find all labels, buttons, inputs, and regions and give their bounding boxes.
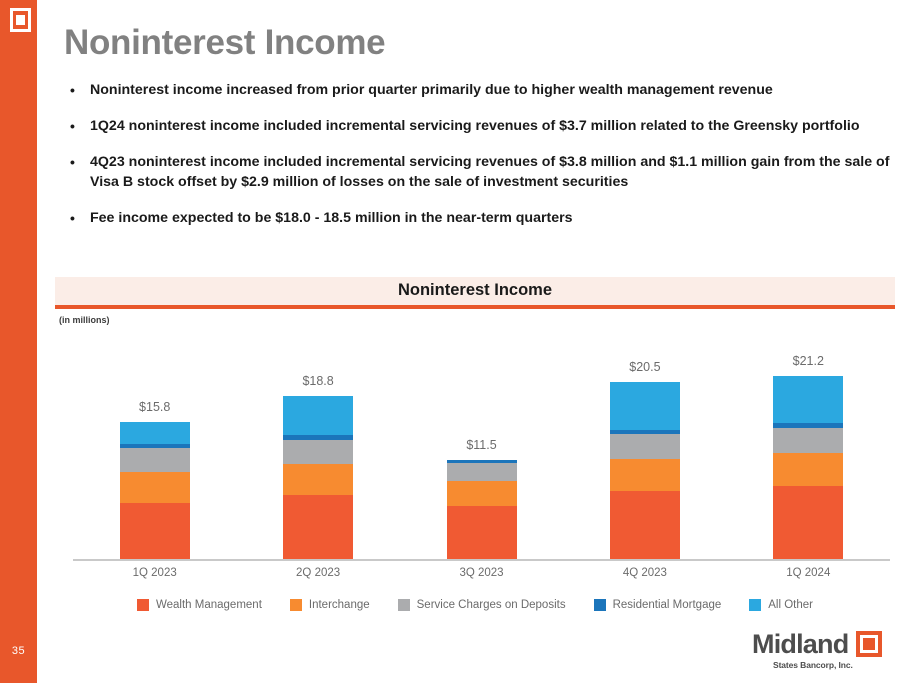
bar-segment[interactable] xyxy=(447,463,517,481)
stacked-bar[interactable] xyxy=(283,396,353,559)
bar-segment[interactable] xyxy=(283,495,353,559)
chart-header-rule xyxy=(55,305,895,309)
midland-square-inner-icon xyxy=(863,638,875,650)
bar-group: $15.8 xyxy=(120,422,190,559)
legend-swatch-icon xyxy=(137,599,149,611)
bar-segment[interactable] xyxy=(773,376,843,424)
bar-group: $11.5 xyxy=(447,460,517,559)
bullet-item: •4Q23 noninterest income included increm… xyxy=(66,152,896,192)
x-tick-label: 2Q 2023 xyxy=(265,567,371,579)
bar-segment[interactable] xyxy=(120,503,190,559)
bar-segment[interactable] xyxy=(773,486,843,559)
x-tick-label: 4Q 2023 xyxy=(592,567,698,579)
x-axis-tick-labels: 1Q 20232Q 20233Q 20234Q 20231Q 2024 xyxy=(73,567,890,587)
chart-units-note: (in millions) xyxy=(59,315,110,325)
midland-square-icon xyxy=(856,631,882,657)
legend-label: Interchange xyxy=(309,599,370,611)
bar-value-label: $20.5 xyxy=(592,360,698,374)
midland-logo: Midland States Bancorp, Inc. xyxy=(752,630,898,676)
bar-value-label: $11.5 xyxy=(429,438,535,452)
bar-segment[interactable] xyxy=(610,459,680,491)
legend-item[interactable]: All Other xyxy=(749,599,813,611)
bar-segment[interactable] xyxy=(283,464,353,495)
bar-segment[interactable] xyxy=(283,396,353,435)
legend-label: All Other xyxy=(768,599,813,611)
x-tick-label: 1Q 2024 xyxy=(755,567,861,579)
chart-legend: Wealth ManagementInterchangeService Char… xyxy=(55,599,895,611)
bar-segment[interactable] xyxy=(447,506,517,559)
bar-group: $18.8 xyxy=(283,396,353,559)
x-axis-line xyxy=(73,559,890,561)
legend-swatch-icon xyxy=(749,599,761,611)
bar-segment[interactable] xyxy=(120,448,190,471)
bullet-list: •Noninterest income increased from prior… xyxy=(66,80,896,244)
legend-item[interactable]: Wealth Management xyxy=(137,599,262,611)
brand-square-icon xyxy=(10,8,31,32)
bullet-marker-icon: • xyxy=(70,208,75,228)
bar-segment[interactable] xyxy=(120,422,190,444)
left-accent-rail: 35 xyxy=(0,0,37,683)
bullet-text: Noninterest income increased from prior … xyxy=(90,82,773,98)
bar-segment[interactable] xyxy=(610,491,680,559)
bullet-marker-icon: • xyxy=(70,152,75,172)
bullet-item: •Noninterest income increased from prior… xyxy=(66,80,896,100)
legend-swatch-icon xyxy=(398,599,410,611)
bar-value-label: $21.2 xyxy=(755,354,861,368)
legend-label: Service Charges on Deposits xyxy=(417,599,566,611)
bullet-text: Fee income expected to be $18.0 - 18.5 m… xyxy=(90,210,573,226)
midland-wordmark: Midland xyxy=(752,630,848,659)
chart-header-band: Noninterest Income xyxy=(55,277,895,305)
stacked-bar[interactable] xyxy=(447,460,517,559)
page-number: 35 xyxy=(0,645,37,657)
bullet-text: 4Q23 noninterest income included increme… xyxy=(90,154,889,190)
chart-plot-area: $15.8$18.8$11.5$20.5$21.2 xyxy=(73,332,890,561)
stacked-bar[interactable] xyxy=(610,382,680,559)
bar-segment[interactable] xyxy=(773,428,843,454)
bullet-item: •Fee income expected to be $18.0 - 18.5 … xyxy=(66,208,896,228)
bar-segment[interactable] xyxy=(120,472,190,503)
bar-value-label: $18.8 xyxy=(265,374,371,388)
bar-segment[interactable] xyxy=(773,453,843,486)
legend-swatch-icon xyxy=(594,599,606,611)
bar-group: $20.5 xyxy=(610,382,680,559)
bullet-marker-icon: • xyxy=(70,116,75,136)
bar-segment[interactable] xyxy=(610,434,680,459)
bar-value-label: $15.8 xyxy=(102,400,208,414)
brand-square-inner-icon xyxy=(16,15,25,25)
chart-panel: Noninterest Income (in millions) $15.8$1… xyxy=(55,277,895,637)
bullet-text: 1Q24 noninterest income included increme… xyxy=(90,118,860,134)
stacked-bar[interactable] xyxy=(773,376,843,559)
midland-tagline: States Bancorp, Inc. xyxy=(773,660,853,670)
page-title: Noninterest Income xyxy=(64,22,385,64)
chart-title: Noninterest Income xyxy=(55,281,895,300)
x-tick-label: 1Q 2023 xyxy=(102,567,208,579)
stacked-bar[interactable] xyxy=(120,422,190,559)
x-tick-label: 3Q 2023 xyxy=(429,567,535,579)
legend-label: Residential Mortgage xyxy=(613,599,722,611)
legend-label: Wealth Management xyxy=(156,599,262,611)
bar-segment[interactable] xyxy=(447,481,517,506)
bar-segment[interactable] xyxy=(610,382,680,430)
bullet-marker-icon: • xyxy=(70,80,75,100)
bar-group: $21.2 xyxy=(773,376,843,559)
legend-item[interactable]: Residential Mortgage xyxy=(594,599,722,611)
legend-swatch-icon xyxy=(290,599,302,611)
legend-item[interactable]: Interchange xyxy=(290,599,370,611)
bar-segment[interactable] xyxy=(283,440,353,464)
legend-item[interactable]: Service Charges on Deposits xyxy=(398,599,566,611)
bullet-item: •1Q24 noninterest income included increm… xyxy=(66,116,896,136)
